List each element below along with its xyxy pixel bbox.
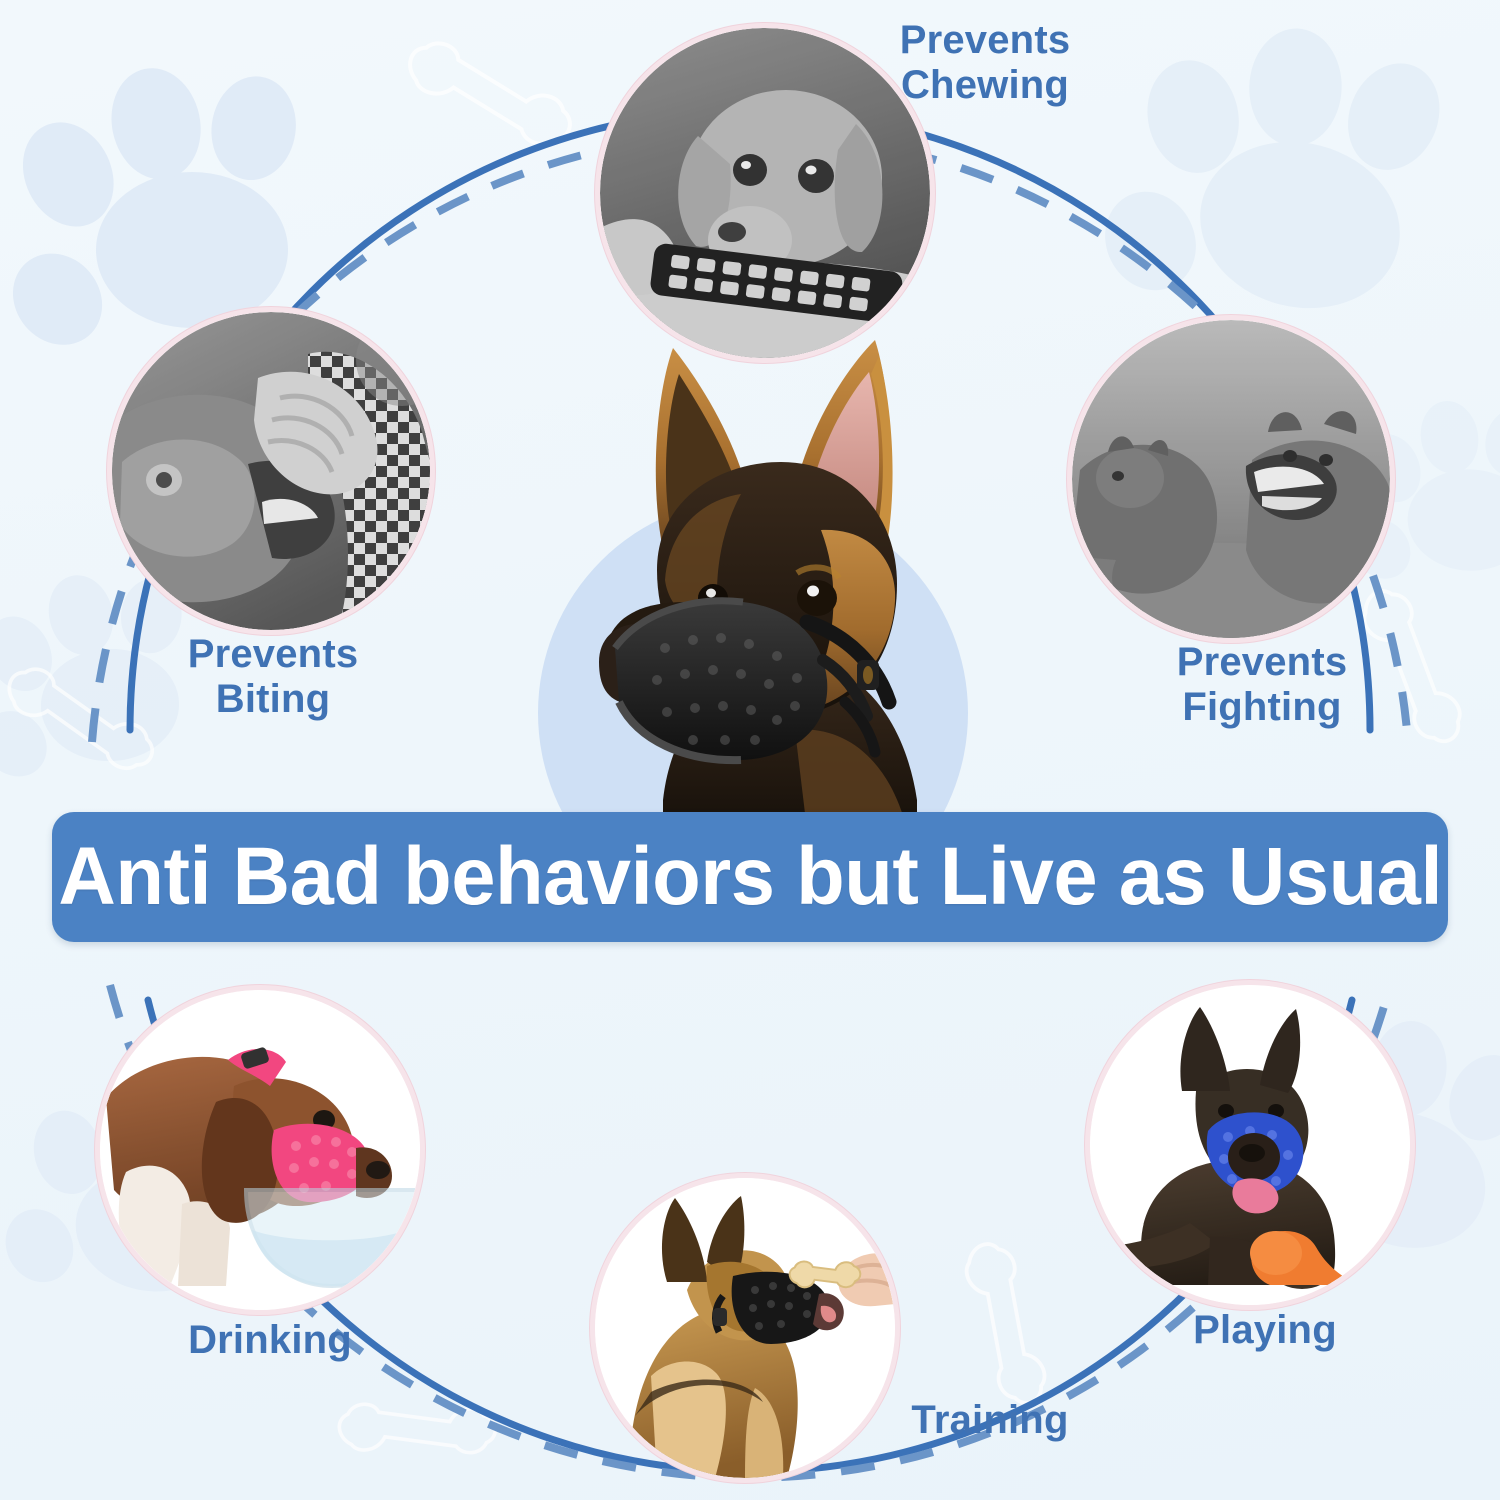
- feature-photo-prevents-biting[interactable]: [112, 312, 430, 630]
- photo-art-fighting: [1072, 320, 1390, 638]
- feature-label-playing: Playing: [1130, 1308, 1400, 1353]
- feature-label-prevents-chewing: Prevents Chewing: [860, 18, 1110, 108]
- feature-photo-playing[interactable]: [1090, 985, 1410, 1305]
- photo-art-drinking: [100, 990, 420, 1310]
- photo-art-biting: [112, 312, 430, 630]
- photo-art-training: [595, 1178, 895, 1478]
- feature-photo-training[interactable]: [595, 1178, 895, 1478]
- feature-photo-drinking[interactable]: [100, 990, 420, 1310]
- infographic-root: Prevents Chewing: [0, 0, 1500, 1500]
- feature-label-training: Training: [855, 1398, 1125, 1443]
- photo-art-playing: [1090, 985, 1410, 1305]
- feature-photo-prevents-fighting[interactable]: [1072, 320, 1390, 638]
- feature-label-drinking: Drinking: [135, 1318, 405, 1363]
- feature-label-prevents-fighting: Prevents Fighting: [1122, 640, 1402, 730]
- feature-label-prevents-biting: Prevents Biting: [148, 632, 398, 722]
- center-dog-illustration: [545, 330, 975, 830]
- headline-banner-text: Anti Bad behaviors but Live as Usual: [58, 830, 1442, 924]
- headline-banner: Anti Bad behaviors but Live as Usual: [52, 812, 1448, 942]
